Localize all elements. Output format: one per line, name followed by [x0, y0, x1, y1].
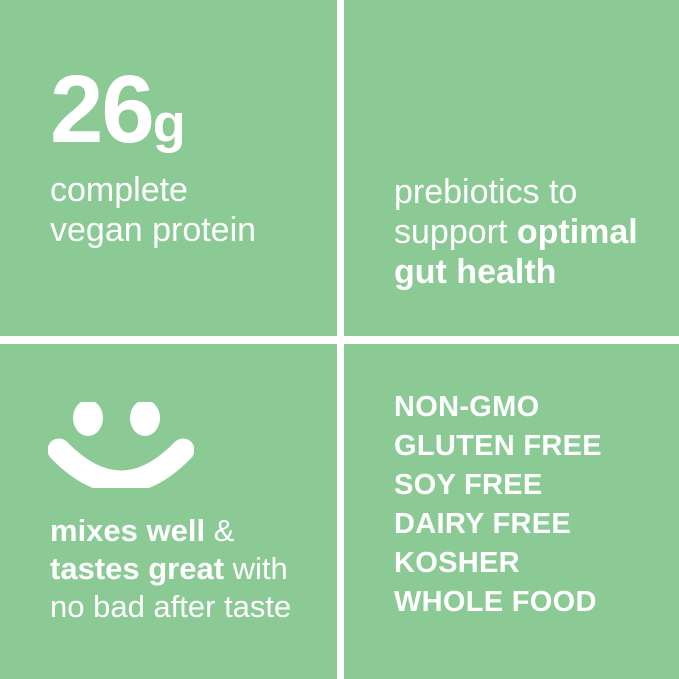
- taste-caption-part-1: &: [205, 513, 234, 548]
- panel-claims: NON-GMO GLUTEN FREE SOY FREE DAIRY FREE …: [344, 344, 679, 679]
- list-item: GLUTEN FREE: [394, 427, 602, 466]
- taste-caption-part-3: no bad after taste: [50, 589, 291, 624]
- protein-caption-line-2: vegan protein: [50, 211, 256, 249]
- list-item: WHOLE FOOD: [394, 583, 602, 622]
- prebiotics-caption-part-1: prebiotics to: [394, 173, 577, 211]
- taste-caption: mixes well & tastes great with no bad af…: [50, 512, 335, 626]
- list-item: SOY FREE: [394, 466, 602, 505]
- protein-caption: complete vegan protein: [50, 170, 320, 250]
- prebiotics-caption-bold-1: optimal: [517, 213, 638, 251]
- protein-caption-line-1: complete: [50, 171, 188, 209]
- protein-stat-number: 26: [50, 56, 153, 163]
- benefits-infographic: 26g complete vegan protein: [0, 0, 679, 679]
- list-item: DAIRY FREE: [394, 505, 602, 544]
- prebiotics-caption-bold-2: gut health: [394, 253, 556, 291]
- protein-stat-unit: g: [153, 94, 185, 154]
- claims-list: NON-GMO GLUTEN FREE SOY FREE DAIRY FREE …: [394, 388, 602, 622]
- taste-caption-bold-2: tastes great: [50, 551, 224, 586]
- panel-protein: 26g complete vegan protein: [0, 0, 337, 336]
- panel-taste: mixes well & tastes great with no bad af…: [0, 344, 337, 679]
- prebiotics-caption-part-2: support: [394, 213, 517, 251]
- prebiotics-caption: prebiotics to support optimal gut health: [394, 172, 679, 292]
- taste-caption-bold-1: mixes well: [50, 513, 205, 548]
- list-item: KOSHER: [394, 544, 602, 583]
- smiley-face-icon: [48, 402, 194, 488]
- panel-prebiotics: prebiotics to support optimal gut health: [344, 0, 679, 336]
- protein-stat: 26g: [50, 62, 185, 158]
- taste-caption-part-2: with: [224, 551, 288, 586]
- list-item: NON-GMO: [394, 388, 602, 427]
